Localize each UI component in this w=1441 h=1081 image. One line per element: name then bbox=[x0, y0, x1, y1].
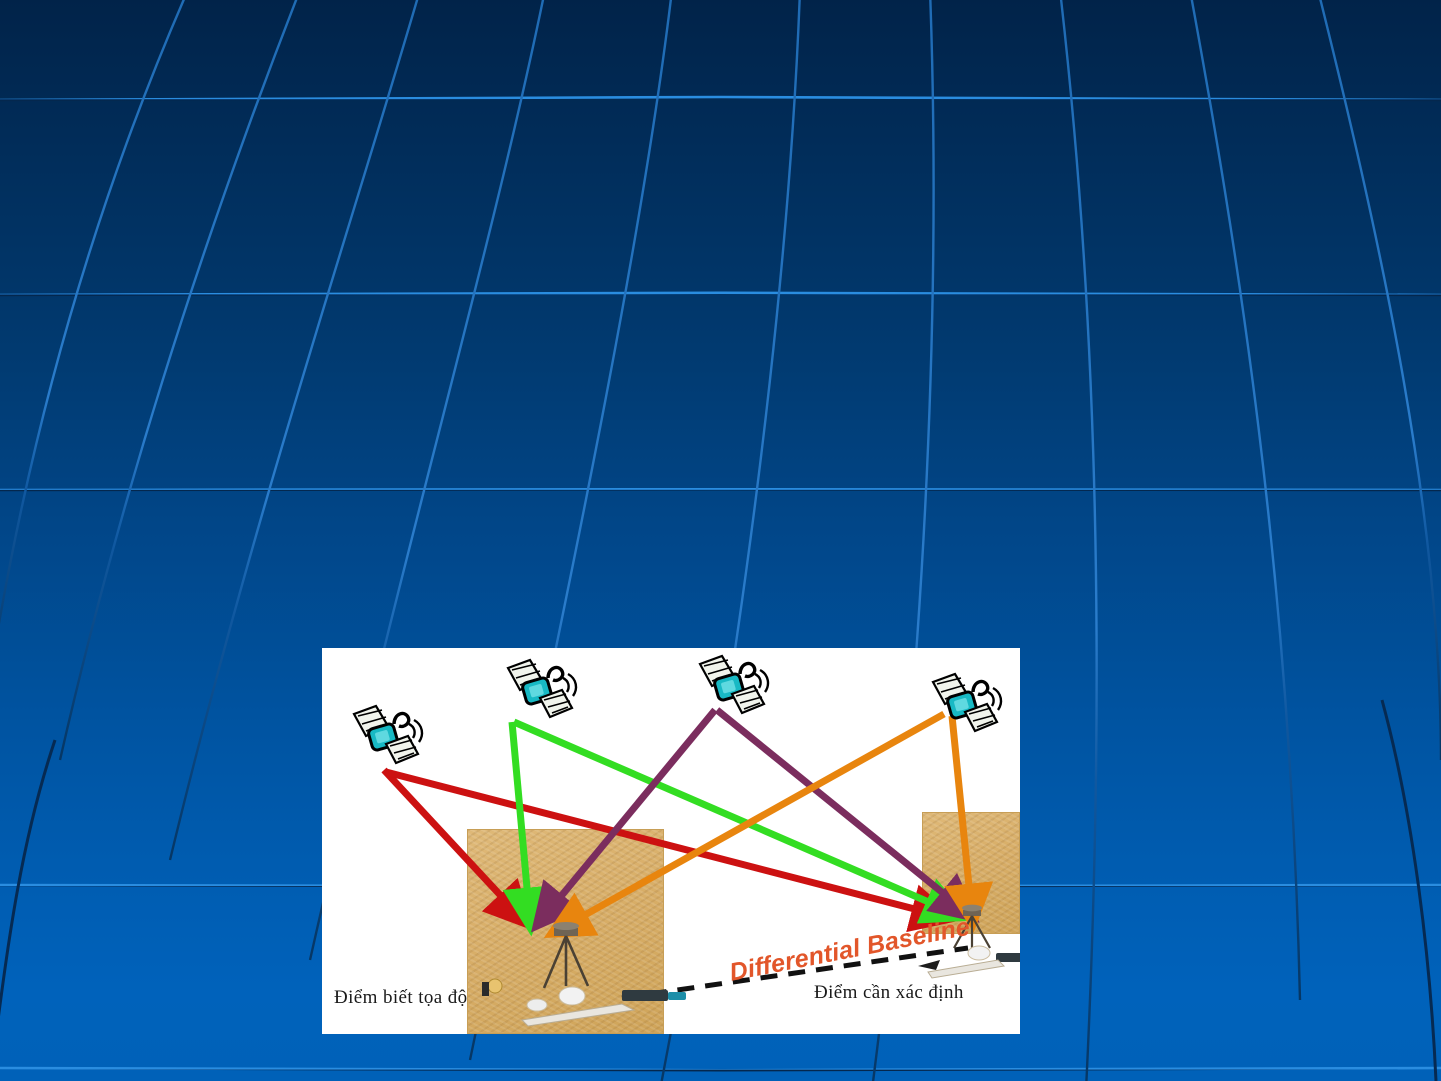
base-station-equipment bbox=[482, 979, 686, 1026]
gps-differential-diagram-image: Điểm biết tọa độ Điểm cần xác định Diffe… bbox=[322, 648, 1020, 1034]
rover-station-label: Điểm cần xác định bbox=[814, 982, 964, 1004]
satellite-icon-3 bbox=[682, 650, 774, 728]
satellite-icon-1 bbox=[336, 700, 428, 778]
satellite-icon-2 bbox=[490, 654, 582, 732]
presentation-slide: Điểm biết tọa độ Điểm cần xác định Diffe… bbox=[0, 0, 1441, 1081]
signal-ray-sat3-base bbox=[548, 710, 715, 912]
base-station-label: Điểm biết tọa độ bbox=[334, 987, 468, 1009]
signal-ray-sat1-rover bbox=[386, 772, 934, 914]
base-station-tripod bbox=[544, 922, 588, 988]
signal-ray-sat2-base bbox=[512, 722, 529, 910]
satellite-icon-4 bbox=[915, 668, 1007, 746]
